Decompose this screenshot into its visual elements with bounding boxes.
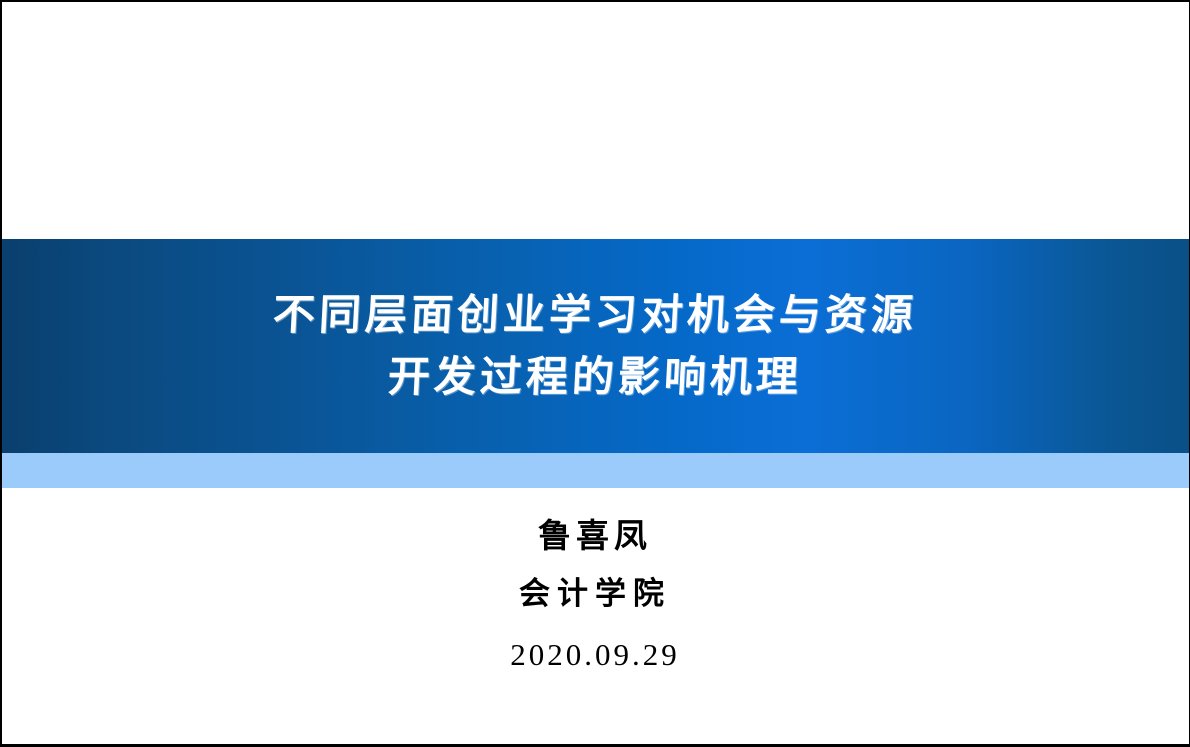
title-line-1: 不同层面创业学习对机会与资源 <box>271 284 918 346</box>
title-line-2: 开发过程的影响机理 <box>386 346 803 408</box>
slide-top-blank-area <box>2 2 1190 239</box>
presenter-name: 鲁喜凤 <box>538 514 652 558</box>
title-banner: 不同层面创业学习对机会与资源 开发过程的影响机理 <box>0 239 1190 453</box>
accent-stripe <box>0 453 1190 488</box>
presenter-department: 会计学院 <box>519 572 671 616</box>
presenter-info-block: 鲁喜凤 会计学院 2020.09.29 <box>2 488 1188 746</box>
presentation-date: 2020.09.29 <box>510 634 680 676</box>
presentation-title-slide: 不同层面创业学习对机会与资源 开发过程的影响机理 鲁喜凤 会计学院 2020.0… <box>0 0 1190 747</box>
